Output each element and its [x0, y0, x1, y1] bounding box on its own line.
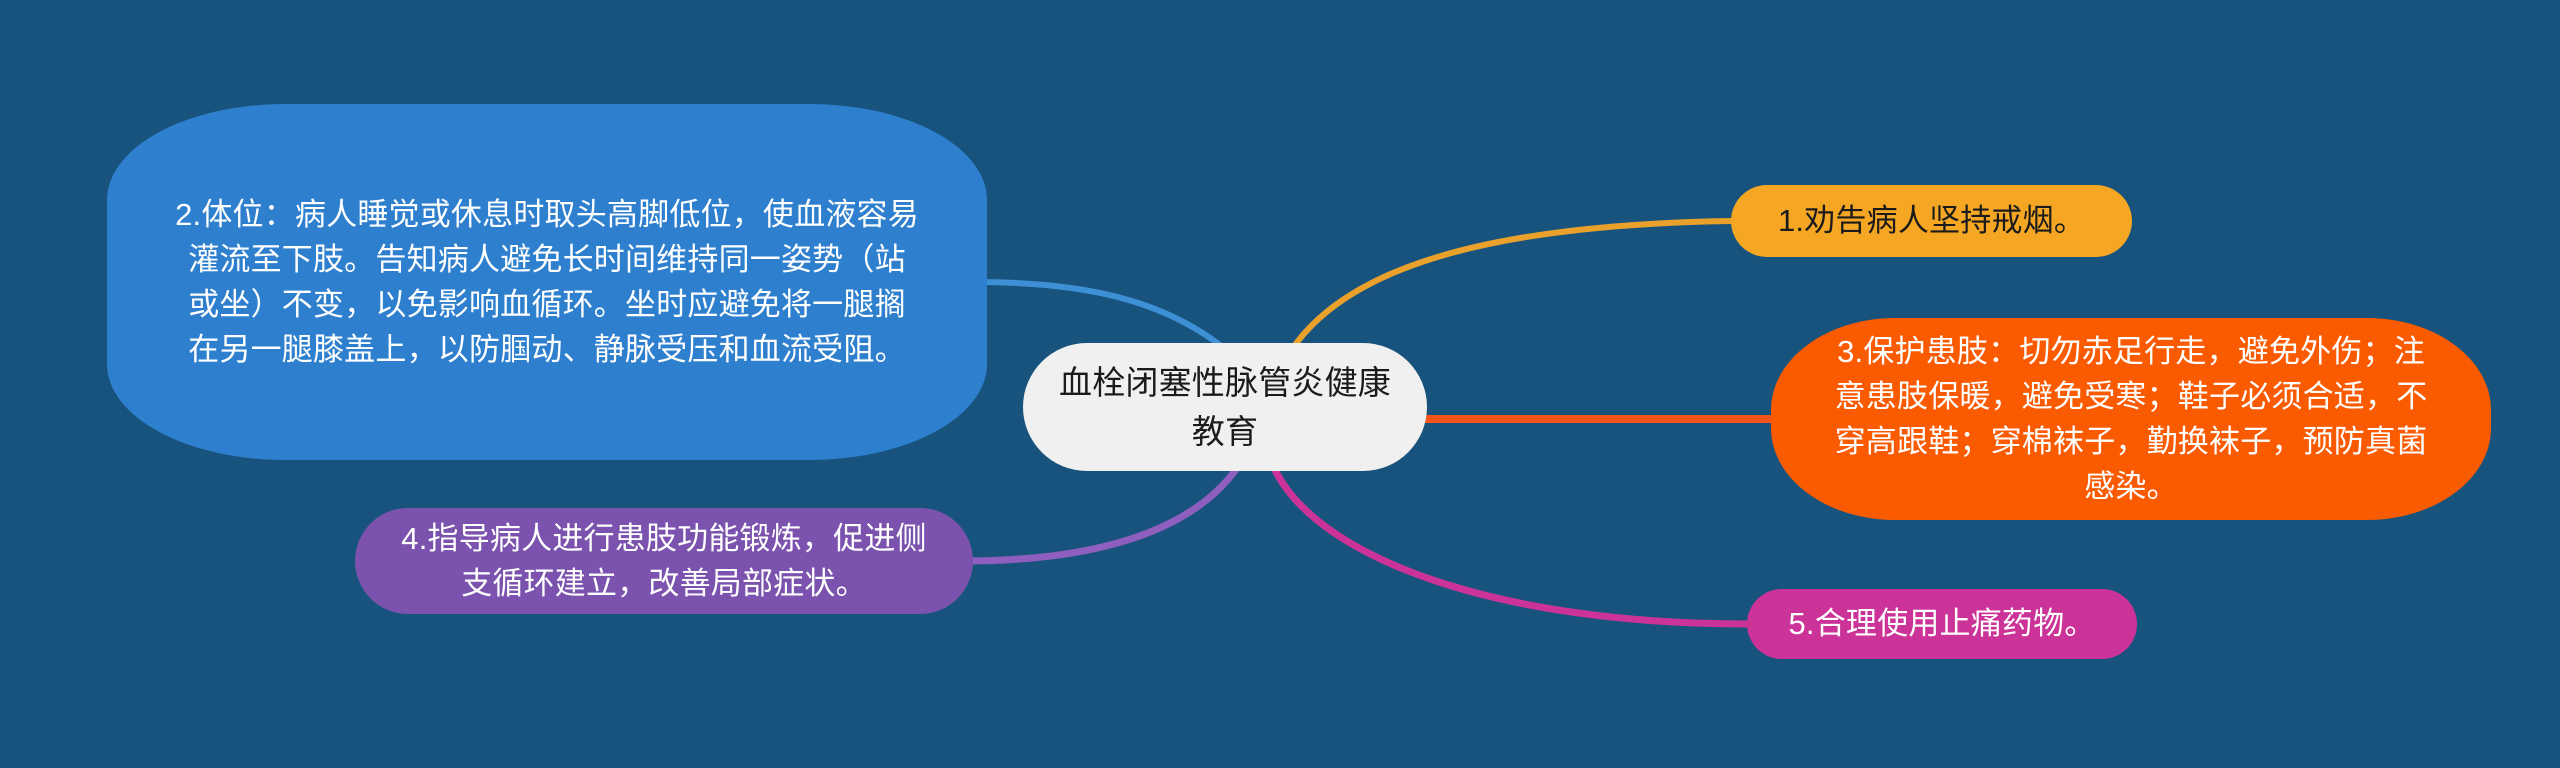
edge-branch-1	[1295, 221, 1731, 345]
edge-branch-4	[963, 468, 1237, 561]
mindmap-node-branch-1[interactable]: 1.劝告病人坚持戒烟。	[1731, 185, 2132, 257]
mindmap-node-branch-3[interactable]: 3.保护患肢：切勿赤足行走，避免外伤；注意患肢保暖，避免受寒；鞋子必须合适，不穿…	[1771, 318, 2491, 520]
mindmap-node-branch-4-label: 4.指导病人进行患肢功能锻炼，促进侧支循环建立，改善局部症状。	[389, 516, 939, 607]
mindmap-node-branch-5-label: 5.合理使用止痛药物。	[1767, 601, 2117, 646]
edge-branch-2	[975, 282, 1220, 345]
mindmap-node-branch-2[interactable]: 2.体位：病人睡觉或休息时取头高脚低位，使血液容易灌流至下肢。告知病人避免长时间…	[107, 104, 987, 460]
edge-branch-5	[1275, 470, 1747, 624]
mindmap-node-branch-5[interactable]: 5.合理使用止痛药物。	[1747, 589, 2137, 659]
mindmap-center-node-label: 血栓闭塞性脉管炎健康教育	[1057, 358, 1393, 457]
mindmap-node-branch-2-label: 2.体位：病人睡觉或休息时取头高脚低位，使血液容易灌流至下肢。告知病人避免长时间…	[173, 192, 921, 373]
mindmap-center-node[interactable]: 血栓闭塞性脉管炎健康教育	[1023, 343, 1427, 471]
mindmap-canvas: 2.体位：病人睡觉或休息时取头高脚低位，使血液容易灌流至下肢。告知病人避免长时间…	[0, 0, 2560, 768]
mindmap-node-branch-4[interactable]: 4.指导病人进行患肢功能锻炼，促进侧支循环建立，改善局部症状。	[355, 508, 973, 614]
mindmap-node-branch-1-label: 1.劝告病人坚持戒烟。	[1753, 198, 2110, 243]
mindmap-node-branch-3-label: 3.保护患肢：切勿赤足行走，避免外伤；注意患肢保暖，避免受寒；鞋子必须合适，不穿…	[1823, 329, 2439, 510]
